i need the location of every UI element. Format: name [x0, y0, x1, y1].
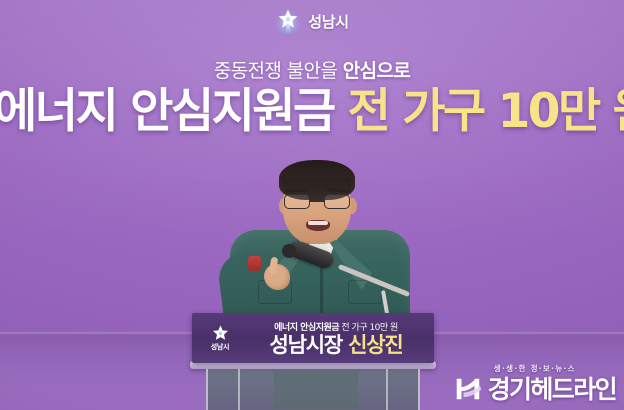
backdrop-subheadline: 중동전쟁 불안을 안심으로 — [0, 56, 624, 83]
podium-sign-name: 신상진 — [348, 333, 402, 357]
headline-gold-part: 전 가구 10만 원 — [334, 84, 624, 139]
watermark-brand-name: 경기헤드라인 — [488, 377, 616, 402]
watermark-brand-row: 경기헤드라인 — [454, 376, 616, 402]
backdrop-headline: 에너지 안심지원금 전 가구 10만 원 — [0, 88, 624, 135]
press-watermark: 생·생·한 정·보·뉴·스 경기헤드라인 — [454, 363, 616, 402]
podium-sign-emblem: 성남시 — [192, 325, 244, 352]
headline-white-part: 에너지 안심지원금 — [0, 84, 334, 139]
seongnam-city-flower-emblem-icon — [275, 8, 301, 35]
podium-name-sign: 성남시 에너지 안심지원금 전 가구 10만 원 성남시장 신상진 — [192, 313, 434, 363]
subheadline-emphasis: 안심으로 — [343, 60, 411, 82]
press-briefing-photo: 성남시 중동전쟁 불안을 안심으로 에너지 안심지원금 전 가구 10만 원 — [0, 0, 624, 410]
subheadline-normal: 중동전쟁 불안을 — [214, 60, 343, 82]
podium-sign-title: 성남시장 — [270, 333, 342, 357]
speaker-mouth — [306, 220, 330, 231]
podium-sign-texts: 에너지 안심지원금 전 가구 10만 원 성남시장 신상진 — [244, 320, 434, 356]
podium-center-panel — [274, 371, 358, 409]
speaker-glasses-icon — [284, 194, 350, 209]
watermark-tagline: 생·생·한 정·보·뉴·스 — [494, 363, 576, 374]
city-emblem-label: 성남시 — [308, 11, 349, 32]
city-emblem-row: 성남시 — [0, 8, 624, 35]
podium-sign-identity-line: 성남시장 신상진 — [270, 335, 403, 356]
speaker-hand — [264, 264, 290, 290]
podium-sign-program-bold: 에너지 안심지원금 — [274, 323, 339, 333]
speaker-shoulder-badge — [248, 256, 261, 271]
seongnam-city-flower-emblem-icon — [212, 325, 229, 341]
podium-sign-program-normal: 전 가구 10만 원 — [339, 323, 398, 333]
podium-sign-program-line: 에너지 안심지원금 전 가구 10만 원 — [274, 320, 398, 333]
podium-sign-city-label: 성남시 — [211, 342, 229, 352]
gyeonggi-headline-h-logo-icon — [454, 376, 484, 402]
podium: 성남시 에너지 안심지원금 전 가구 10만 원 성남시장 신상진 — [192, 313, 434, 410]
podium-base — [206, 369, 420, 410]
